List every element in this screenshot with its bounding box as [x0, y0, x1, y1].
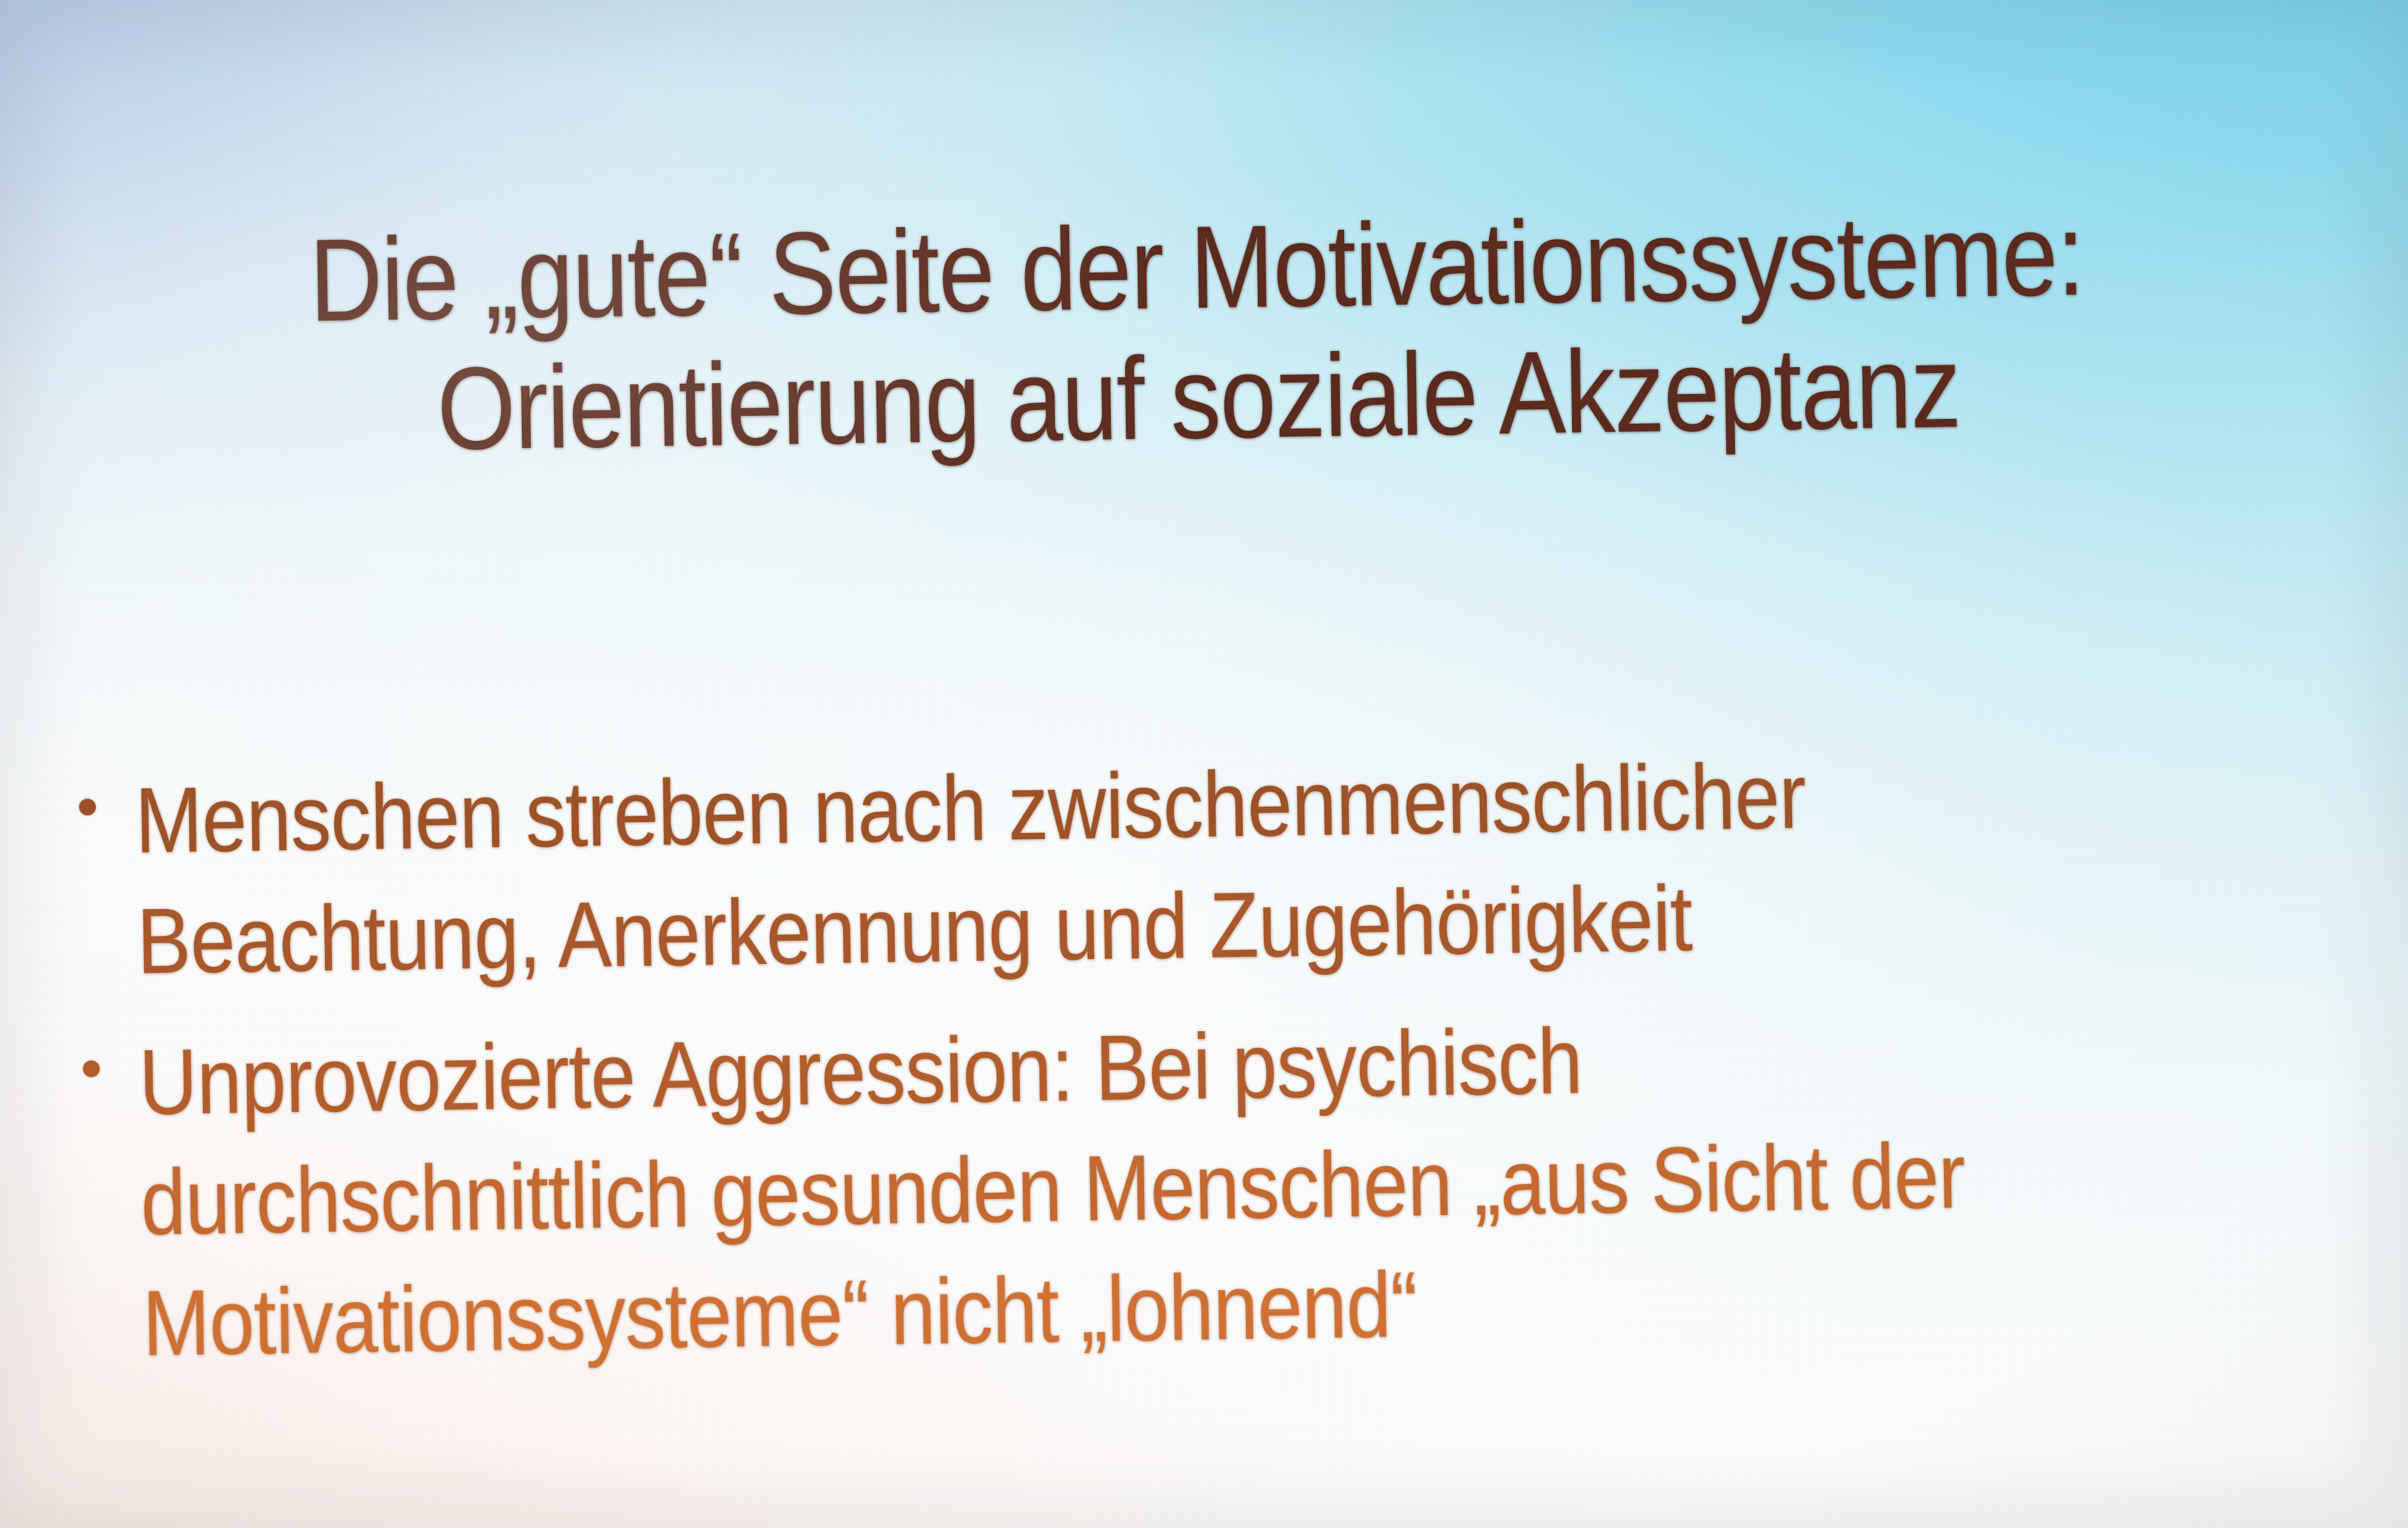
bullet-item-1: • Menschen streben nach zwischenmenschli… — [57, 728, 2346, 1004]
bullet-item-2: • Unprovozierte Aggression: Bei psychisc… — [61, 990, 2351, 1385]
slide-content: Die „gute“ Seite der Motivationssysteme:… — [0, 0, 2408, 1528]
bullet-item-1-text: Menschen streben nach zwischenmenschlich… — [134, 728, 2346, 1003]
bullet-point-icon: • — [61, 1022, 139, 1115]
presentation-slide: Die „gute“ Seite der Motivationssysteme:… — [0, 0, 2408, 1528]
bullet-point-icon: • — [57, 761, 136, 854]
bullet-item-2-text: Unprovozierte Aggression: Bei psychisch … — [138, 990, 2351, 1384]
slide-bullet-list: • Menschen streben nach zwischenmenschli… — [57, 728, 2352, 1406]
slide-title: Die „gute“ Seite der Motivationssysteme:… — [0, 184, 2403, 480]
